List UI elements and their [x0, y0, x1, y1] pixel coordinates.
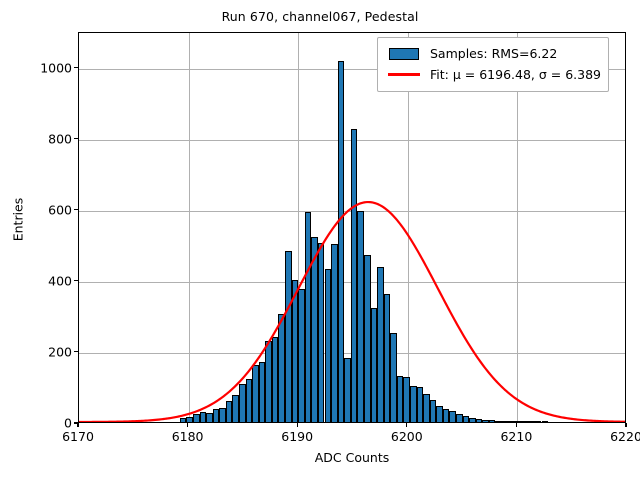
x-tick-mark — [297, 423, 298, 427]
histogram-bar — [259, 362, 266, 422]
histogram-bar — [463, 416, 470, 422]
histogram-bar — [318, 243, 325, 423]
histogram-bar — [200, 412, 207, 422]
histogram-bar — [206, 413, 213, 422]
histogram-bar — [456, 414, 463, 422]
y-tick-label: 400 — [48, 273, 72, 288]
legend-label-fit: Fit: μ = 6196.48, σ = 6.389 — [430, 67, 601, 82]
x-tick-label: 6220 — [610, 429, 640, 444]
histogram-bar — [351, 129, 358, 422]
histogram-bar — [298, 289, 305, 422]
legend-patch-icon — [385, 48, 423, 60]
legend-item-samples: Samples: RMS=6.22 — [385, 43, 601, 64]
y-tick-label: 200 — [48, 344, 72, 359]
histogram-bar — [535, 421, 542, 422]
histogram-bar — [489, 420, 496, 422]
figure-canvas: Run 670, channel067, Pedestal 0200400600… — [0, 0, 640, 480]
histogram-bar — [443, 409, 450, 423]
x-axis-label: ADC Counts — [78, 450, 626, 465]
histogram-bar — [377, 267, 384, 422]
histogram-bar — [278, 314, 285, 422]
y-tick-label: 600 — [48, 202, 72, 217]
histogram-bar — [338, 61, 345, 422]
histogram-bar — [423, 394, 430, 422]
legend: Samples: RMS=6.22 Fit: μ = 6196.48, σ = … — [377, 37, 609, 92]
histogram-bar — [325, 269, 332, 422]
histogram-bar — [417, 387, 424, 422]
histogram-bar — [272, 337, 279, 422]
histogram-bar — [265, 341, 272, 422]
histogram-bar — [213, 409, 220, 423]
histogram-bar — [232, 395, 239, 422]
histogram-bar — [449, 411, 456, 422]
histogram-bar — [482, 420, 489, 422]
histogram-bar — [219, 408, 226, 422]
x-tick-label: 6200 — [391, 429, 423, 444]
histogram-bar — [502, 421, 509, 422]
histogram-bar — [357, 211, 364, 422]
y-tick-mark — [74, 351, 78, 352]
histogram-bar — [180, 418, 187, 422]
y-tick-mark — [74, 209, 78, 210]
page-title: Run 670, channel067, Pedestal — [0, 9, 640, 24]
x-tick-label: 6180 — [172, 429, 204, 444]
histogram-bar — [542, 421, 549, 422]
histogram-bar — [344, 358, 351, 422]
histogram-bar — [515, 421, 522, 422]
x-tick-mark — [406, 423, 407, 427]
histogram-bar — [509, 421, 516, 422]
histogram-bar — [397, 376, 404, 422]
y-tick-mark — [74, 280, 78, 281]
x-tick-label: 6210 — [500, 429, 532, 444]
y-tick-mark — [74, 67, 78, 68]
x-tick-label: 6190 — [281, 429, 313, 444]
histogram-bar — [403, 377, 410, 422]
y-tick-label: 800 — [48, 131, 72, 146]
histogram-bar — [252, 365, 259, 422]
legend-line-icon — [385, 73, 423, 75]
y-axis-label: Entries — [11, 140, 26, 300]
histogram-bar — [292, 280, 299, 422]
histogram-bar — [436, 406, 443, 422]
y-tick-label: 1000 — [40, 60, 72, 75]
histogram-bar — [193, 414, 200, 422]
histogram-bar — [305, 212, 312, 422]
y-tick-mark — [74, 138, 78, 139]
histogram-bar — [390, 333, 397, 422]
x-tick-mark — [625, 423, 626, 427]
histogram-bar — [495, 421, 502, 422]
x-tick-label: 6170 — [62, 429, 94, 444]
x-tick-mark — [516, 423, 517, 427]
histogram-bar — [246, 379, 253, 422]
legend-item-fit: Fit: μ = 6196.48, σ = 6.389 — [385, 64, 601, 85]
legend-label-samples: Samples: RMS=6.22 — [430, 46, 557, 61]
histogram-bar — [364, 255, 371, 422]
histogram-bar — [522, 421, 529, 422]
x-tick-mark — [187, 423, 188, 427]
histogram-bar — [469, 418, 476, 422]
histogram-bar — [371, 308, 378, 422]
histogram-bar — [410, 386, 417, 422]
x-tick-mark — [77, 423, 78, 427]
histogram-bar — [311, 237, 318, 422]
histogram-bar — [226, 401, 233, 422]
